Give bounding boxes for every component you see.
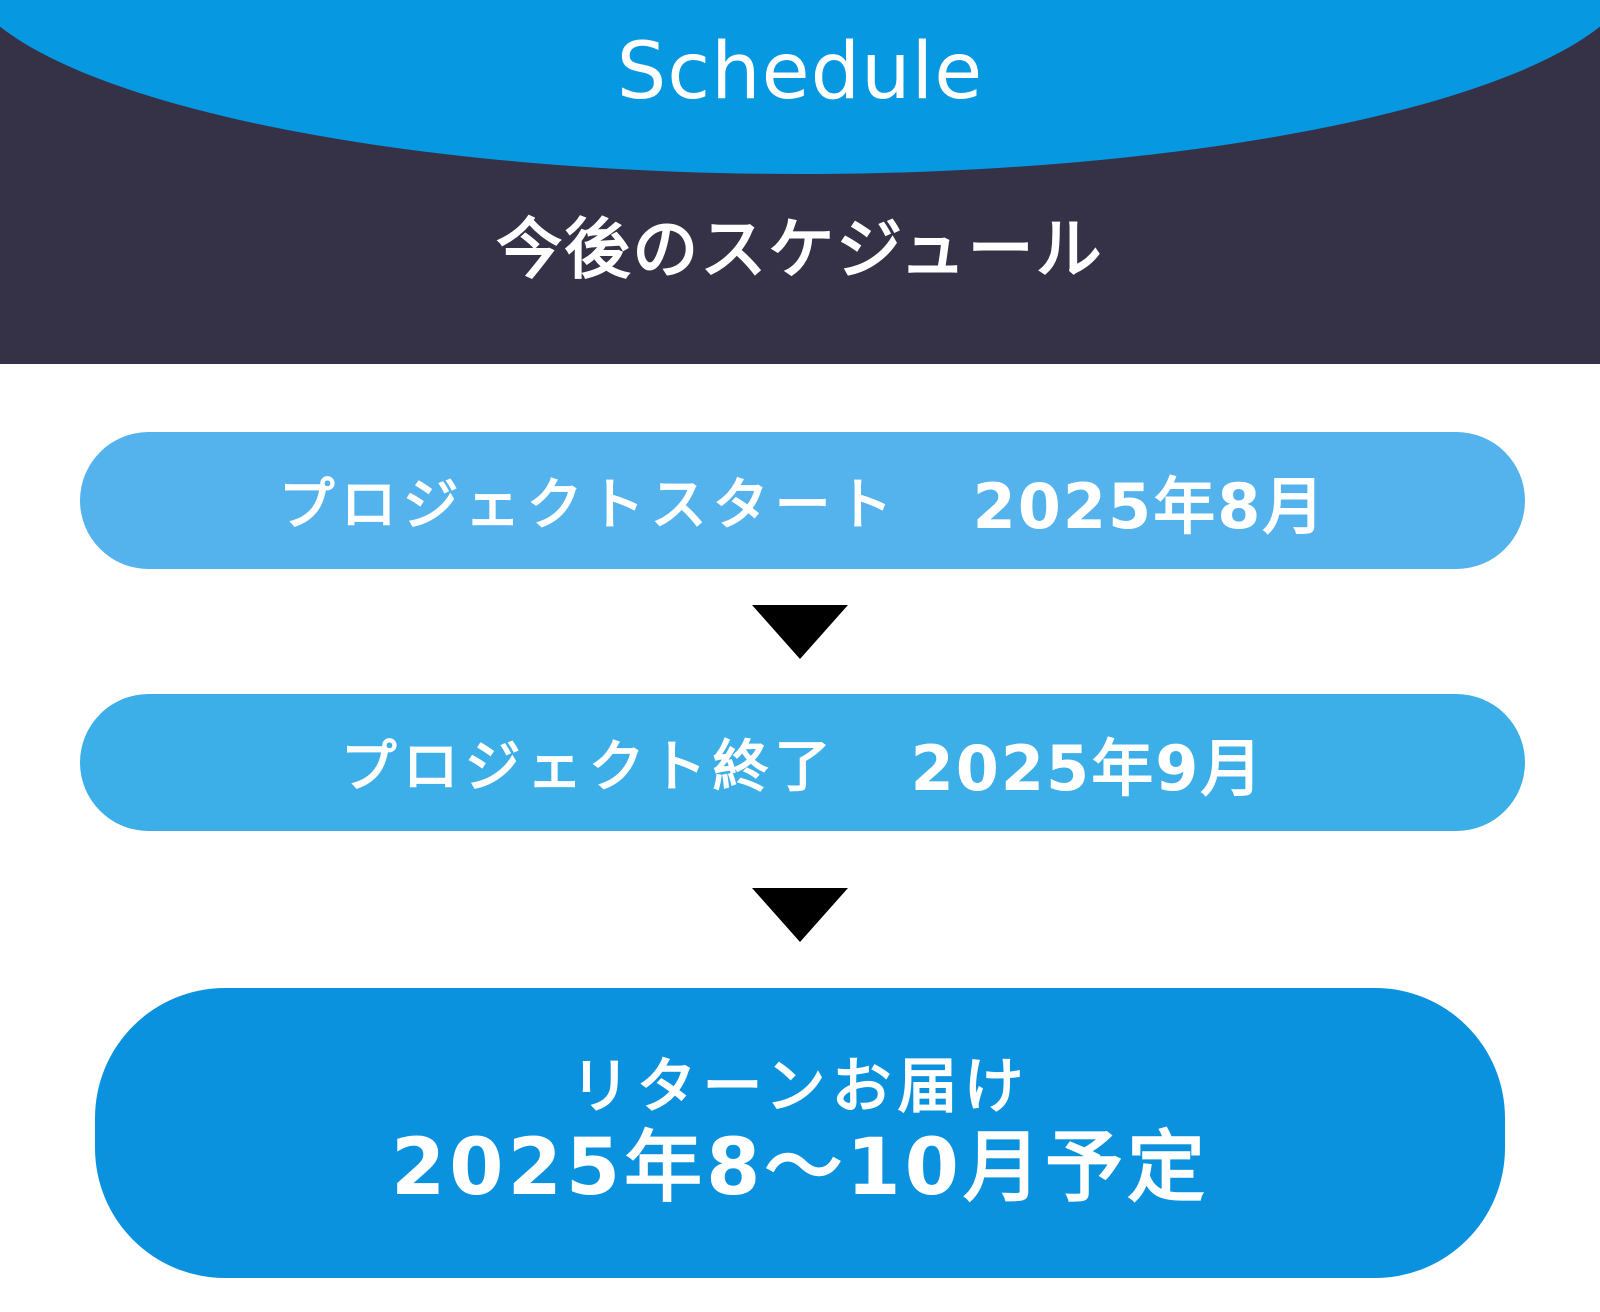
timeline-step-label: プロジェクト終了 xyxy=(341,722,837,803)
page-title: Schedule xyxy=(0,30,1600,116)
timeline-step-project-end: プロジェクト終了 2025年9月 xyxy=(80,694,1525,831)
timeline-step-label: プロジェクトスタート xyxy=(279,460,899,541)
page-header: Schedule 今後のスケジュール xyxy=(0,0,1600,364)
timeline-step-row: プロジェクト終了 2025年9月 xyxy=(341,718,1265,808)
timeline-step-label: リターンお届け xyxy=(571,1054,1030,1121)
page-subtitle: 今後のスケジュール xyxy=(0,212,1600,288)
timeline-step-project-start: プロジェクトスタート 2025年8月 xyxy=(80,432,1525,569)
timeline-step-date: 2025年8月 xyxy=(973,456,1327,546)
triangle-down-icon xyxy=(752,605,848,659)
timeline-step-return-delivery: リターンお届け 2025年8〜10月予定 xyxy=(95,988,1505,1278)
timeline-step-row: プロジェクトスタート 2025年8月 xyxy=(279,456,1327,546)
schedule-timeline: プロジェクトスタート 2025年8月 プロジェクト終了 2025年9月 リターン… xyxy=(0,364,1600,1312)
schedule-page: Schedule 今後のスケジュール プロジェクトスタート 2025年8月 プロ… xyxy=(0,0,1600,1312)
triangle-down-icon xyxy=(752,888,848,942)
timeline-step-date: 2025年8〜10月予定 xyxy=(391,1125,1209,1212)
timeline-step-date: 2025年9月 xyxy=(911,718,1265,808)
